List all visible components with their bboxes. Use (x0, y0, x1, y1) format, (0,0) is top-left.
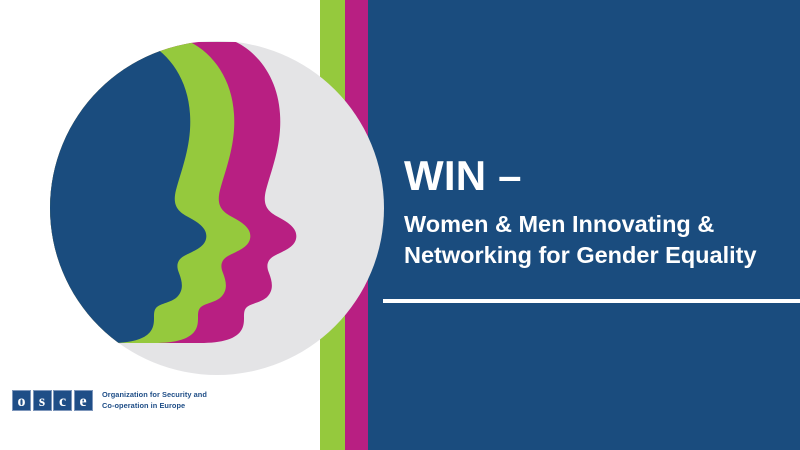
title-text-block: WIN – Women & Men Innovating & Networkin… (404, 155, 794, 272)
win-faces-logo-svg (50, 40, 390, 380)
white-rule (383, 299, 800, 303)
subtitle-line-2: Networking for Gender Equality (404, 240, 794, 271)
subtitle-line-1: Women & Men Innovating & (404, 209, 794, 240)
osce-tagline: Organization for Security and Co-operati… (102, 390, 207, 410)
osce-tagline-line-1: Organization for Security and (102, 390, 207, 400)
osce-letter-c: c (53, 390, 72, 411)
osce-letter-e: e (74, 390, 93, 411)
slide-canvas: WIN – Women & Men Innovating & Networkin… (0, 0, 800, 450)
win-faces-logo (50, 40, 390, 380)
osce-tagline-line-2: Co-operation in Europe (102, 401, 207, 411)
osce-logo: o s c e Organization for Security and Co… (12, 390, 207, 411)
osce-letter-s: s (33, 390, 52, 411)
page-title: WIN – (404, 155, 794, 197)
osce-letter-o: o (12, 390, 31, 411)
osce-letter-boxes: o s c e (12, 390, 94, 411)
